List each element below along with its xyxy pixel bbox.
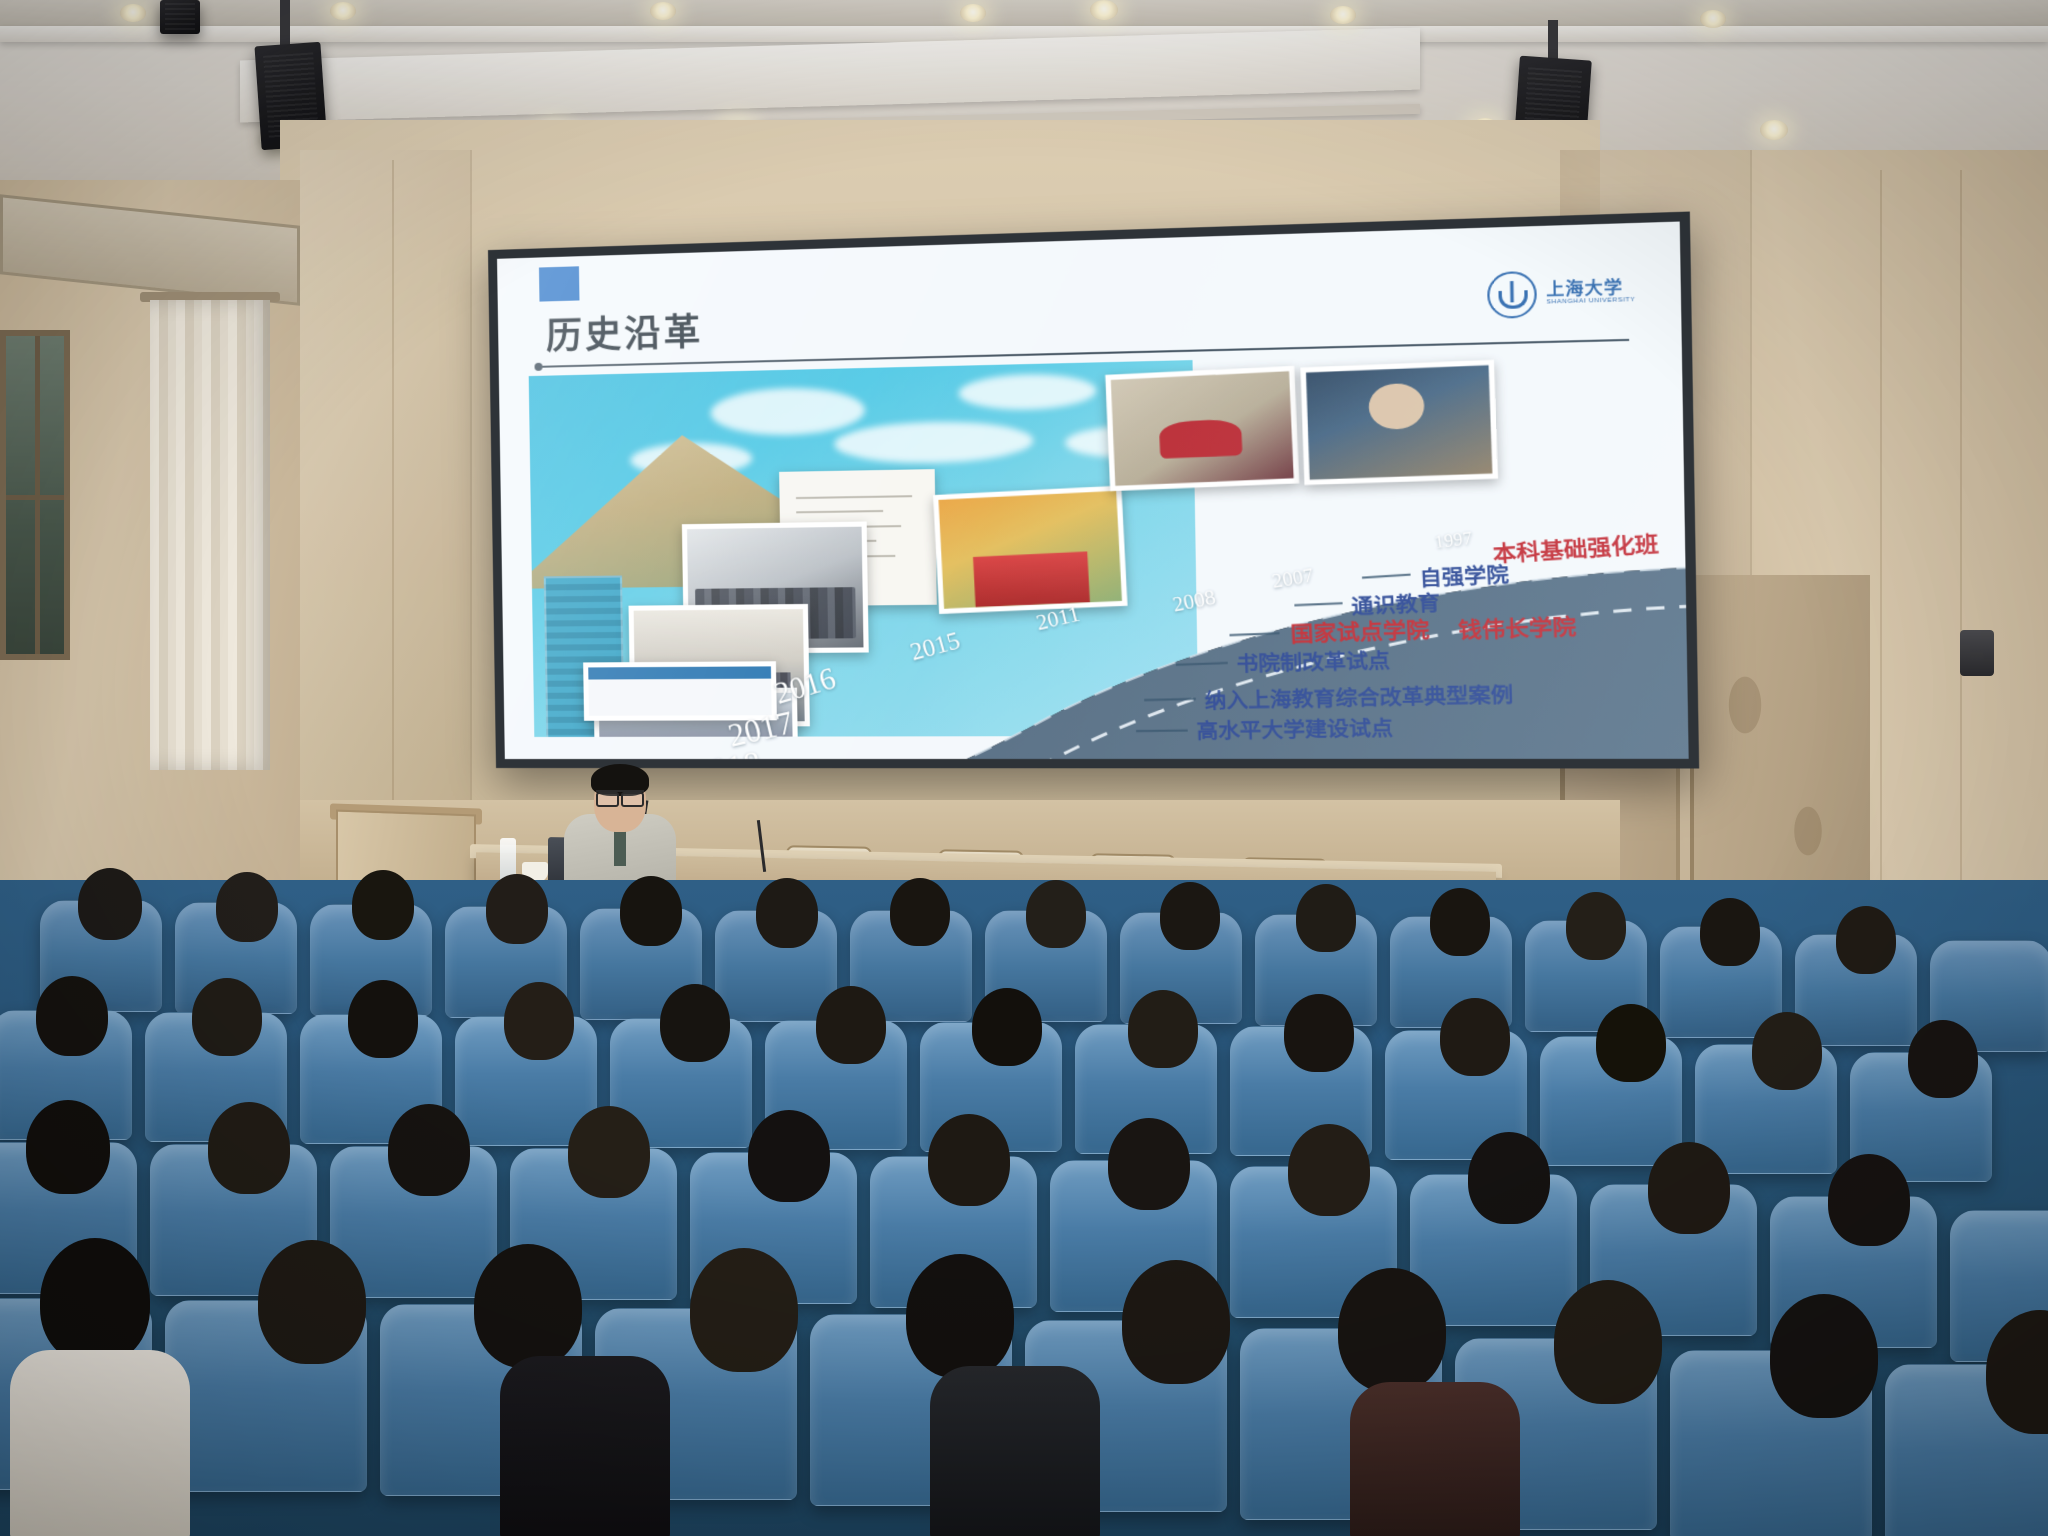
projection-screen-frame: 历史沿革 上海大学 SHANGHAI UNIVERSITY	[488, 212, 1699, 769]
attendee-head	[620, 876, 682, 946]
attendee-head	[474, 1244, 582, 1368]
attendee-head	[690, 1248, 798, 1372]
attendee-head	[78, 868, 142, 940]
ceiling-downlight	[1760, 120, 1788, 140]
window-mullion	[35, 336, 40, 654]
side-window	[0, 330, 70, 660]
attendee-head	[504, 982, 574, 1060]
ceiling-downlight	[120, 4, 146, 22]
attendee-head	[1026, 880, 1086, 948]
attendee-shoulders	[10, 1350, 190, 1536]
attendee-head	[486, 874, 548, 944]
attendee-head	[906, 1254, 1014, 1378]
university-logo: 上海大学 SHANGHAI UNIVERSITY	[1487, 268, 1635, 319]
attendee-head	[756, 878, 818, 948]
attendee-head	[1288, 1124, 1370, 1216]
collage-photo-plaque	[1105, 366, 1299, 491]
timeline-event-2015: 书院制改革试点	[1236, 644, 1390, 678]
speaker-mount	[280, 0, 290, 46]
attendee-shoulders	[1350, 1382, 1520, 1536]
attendee-head	[1700, 898, 1760, 966]
photo-inner	[588, 666, 771, 715]
timeline-event-2011-b: 钱伟长学院	[1458, 610, 1577, 646]
attendee-head	[660, 984, 730, 1062]
attendee-head	[388, 1104, 470, 1196]
lecture-hall-screenshot: 历史沿革 上海大学 SHANGHAI UNIVERSITY	[0, 0, 2048, 1536]
attendee-head	[192, 978, 262, 1056]
projection-screen[interactable]: 历史沿革 上海大学 SHANGHAI UNIVERSITY	[497, 222, 1689, 759]
ceiling-downlight	[1330, 6, 1356, 24]
timeline-event-2017: 高水平大学建设试点	[1196, 711, 1394, 744]
attendee-head	[1468, 1132, 1550, 1224]
presenter-glasses	[596, 790, 644, 803]
attendee-head	[1284, 994, 1354, 1072]
attendee-head	[208, 1102, 290, 1194]
presentation-slide: 历史沿革 上海大学 SHANGHAI UNIVERSITY	[497, 222, 1689, 759]
ceiling-speaker	[160, 0, 200, 34]
sky-cloud	[710, 386, 865, 436]
photo-inner	[1306, 365, 1492, 479]
attendee-head	[352, 870, 414, 940]
attendee-head	[1566, 892, 1626, 960]
attendee-head	[1440, 998, 1510, 1076]
sky-cloud	[834, 420, 1034, 465]
ceiling-downlight	[1090, 0, 1118, 20]
university-logo-label-en: SHANGHAI UNIVERSITY	[1546, 297, 1635, 306]
timeline-year-2018: 2018	[691, 745, 764, 759]
photo-inner	[1111, 371, 1294, 486]
slide-title: 历史沿革	[546, 303, 704, 360]
attendee-head	[1596, 1004, 1666, 1082]
ceiling-downlight	[650, 2, 676, 20]
attendee-head	[1122, 1260, 1230, 1384]
attendee-shoulders	[930, 1366, 1100, 1536]
attendee-head	[1908, 1020, 1978, 1098]
attendee-head	[1128, 990, 1198, 1068]
attendee-head	[1160, 882, 1220, 950]
attendee-shoulders	[500, 1356, 670, 1536]
ceiling-downlight	[960, 4, 986, 22]
doc-line	[796, 495, 912, 499]
doc-line	[796, 510, 883, 513]
attendee-head	[216, 872, 278, 942]
attendee-head	[1752, 1012, 1822, 1090]
attendee-head	[816, 986, 886, 1064]
ceiling-downlight	[1700, 10, 1726, 28]
site-body	[588, 679, 771, 716]
attendee-head	[890, 878, 950, 946]
slide-accent-block	[539, 266, 580, 301]
sky-cloud	[958, 373, 1096, 411]
attendee-head	[36, 976, 108, 1056]
attendee-head	[1430, 888, 1490, 956]
presenter	[560, 762, 680, 887]
attendee-head	[972, 988, 1042, 1066]
ceiling-downlight	[330, 2, 356, 20]
window-curtain	[150, 300, 270, 770]
wall-mounted-fixture	[1960, 630, 1994, 676]
attendee-head	[748, 1110, 830, 1202]
site-header-bar	[588, 666, 771, 680]
attendee-head	[26, 1100, 110, 1194]
attendee-head	[568, 1106, 650, 1198]
attendee-head	[1770, 1294, 1878, 1418]
attendee-head	[258, 1240, 366, 1364]
attendee-head	[1836, 906, 1896, 974]
attendee-head	[1828, 1154, 1910, 1246]
attendee-head	[1296, 884, 1356, 952]
attendee-head	[1108, 1118, 1190, 1210]
audience-area	[0, 880, 2048, 1536]
attendee-head	[928, 1114, 1010, 1206]
ceiling-panel	[0, 0, 2048, 26]
timeline-event-2016: 纳入上海教育综合改革典型案例	[1204, 678, 1513, 715]
collage-photo-portrait	[1300, 360, 1498, 485]
attendee-head	[1554, 1280, 1662, 1404]
attendee-head	[1338, 1268, 1446, 1392]
attendee-head	[40, 1238, 150, 1364]
attendee-head	[1648, 1142, 1730, 1234]
attendee-head	[348, 980, 418, 1058]
university-logo-mark	[1487, 271, 1537, 319]
